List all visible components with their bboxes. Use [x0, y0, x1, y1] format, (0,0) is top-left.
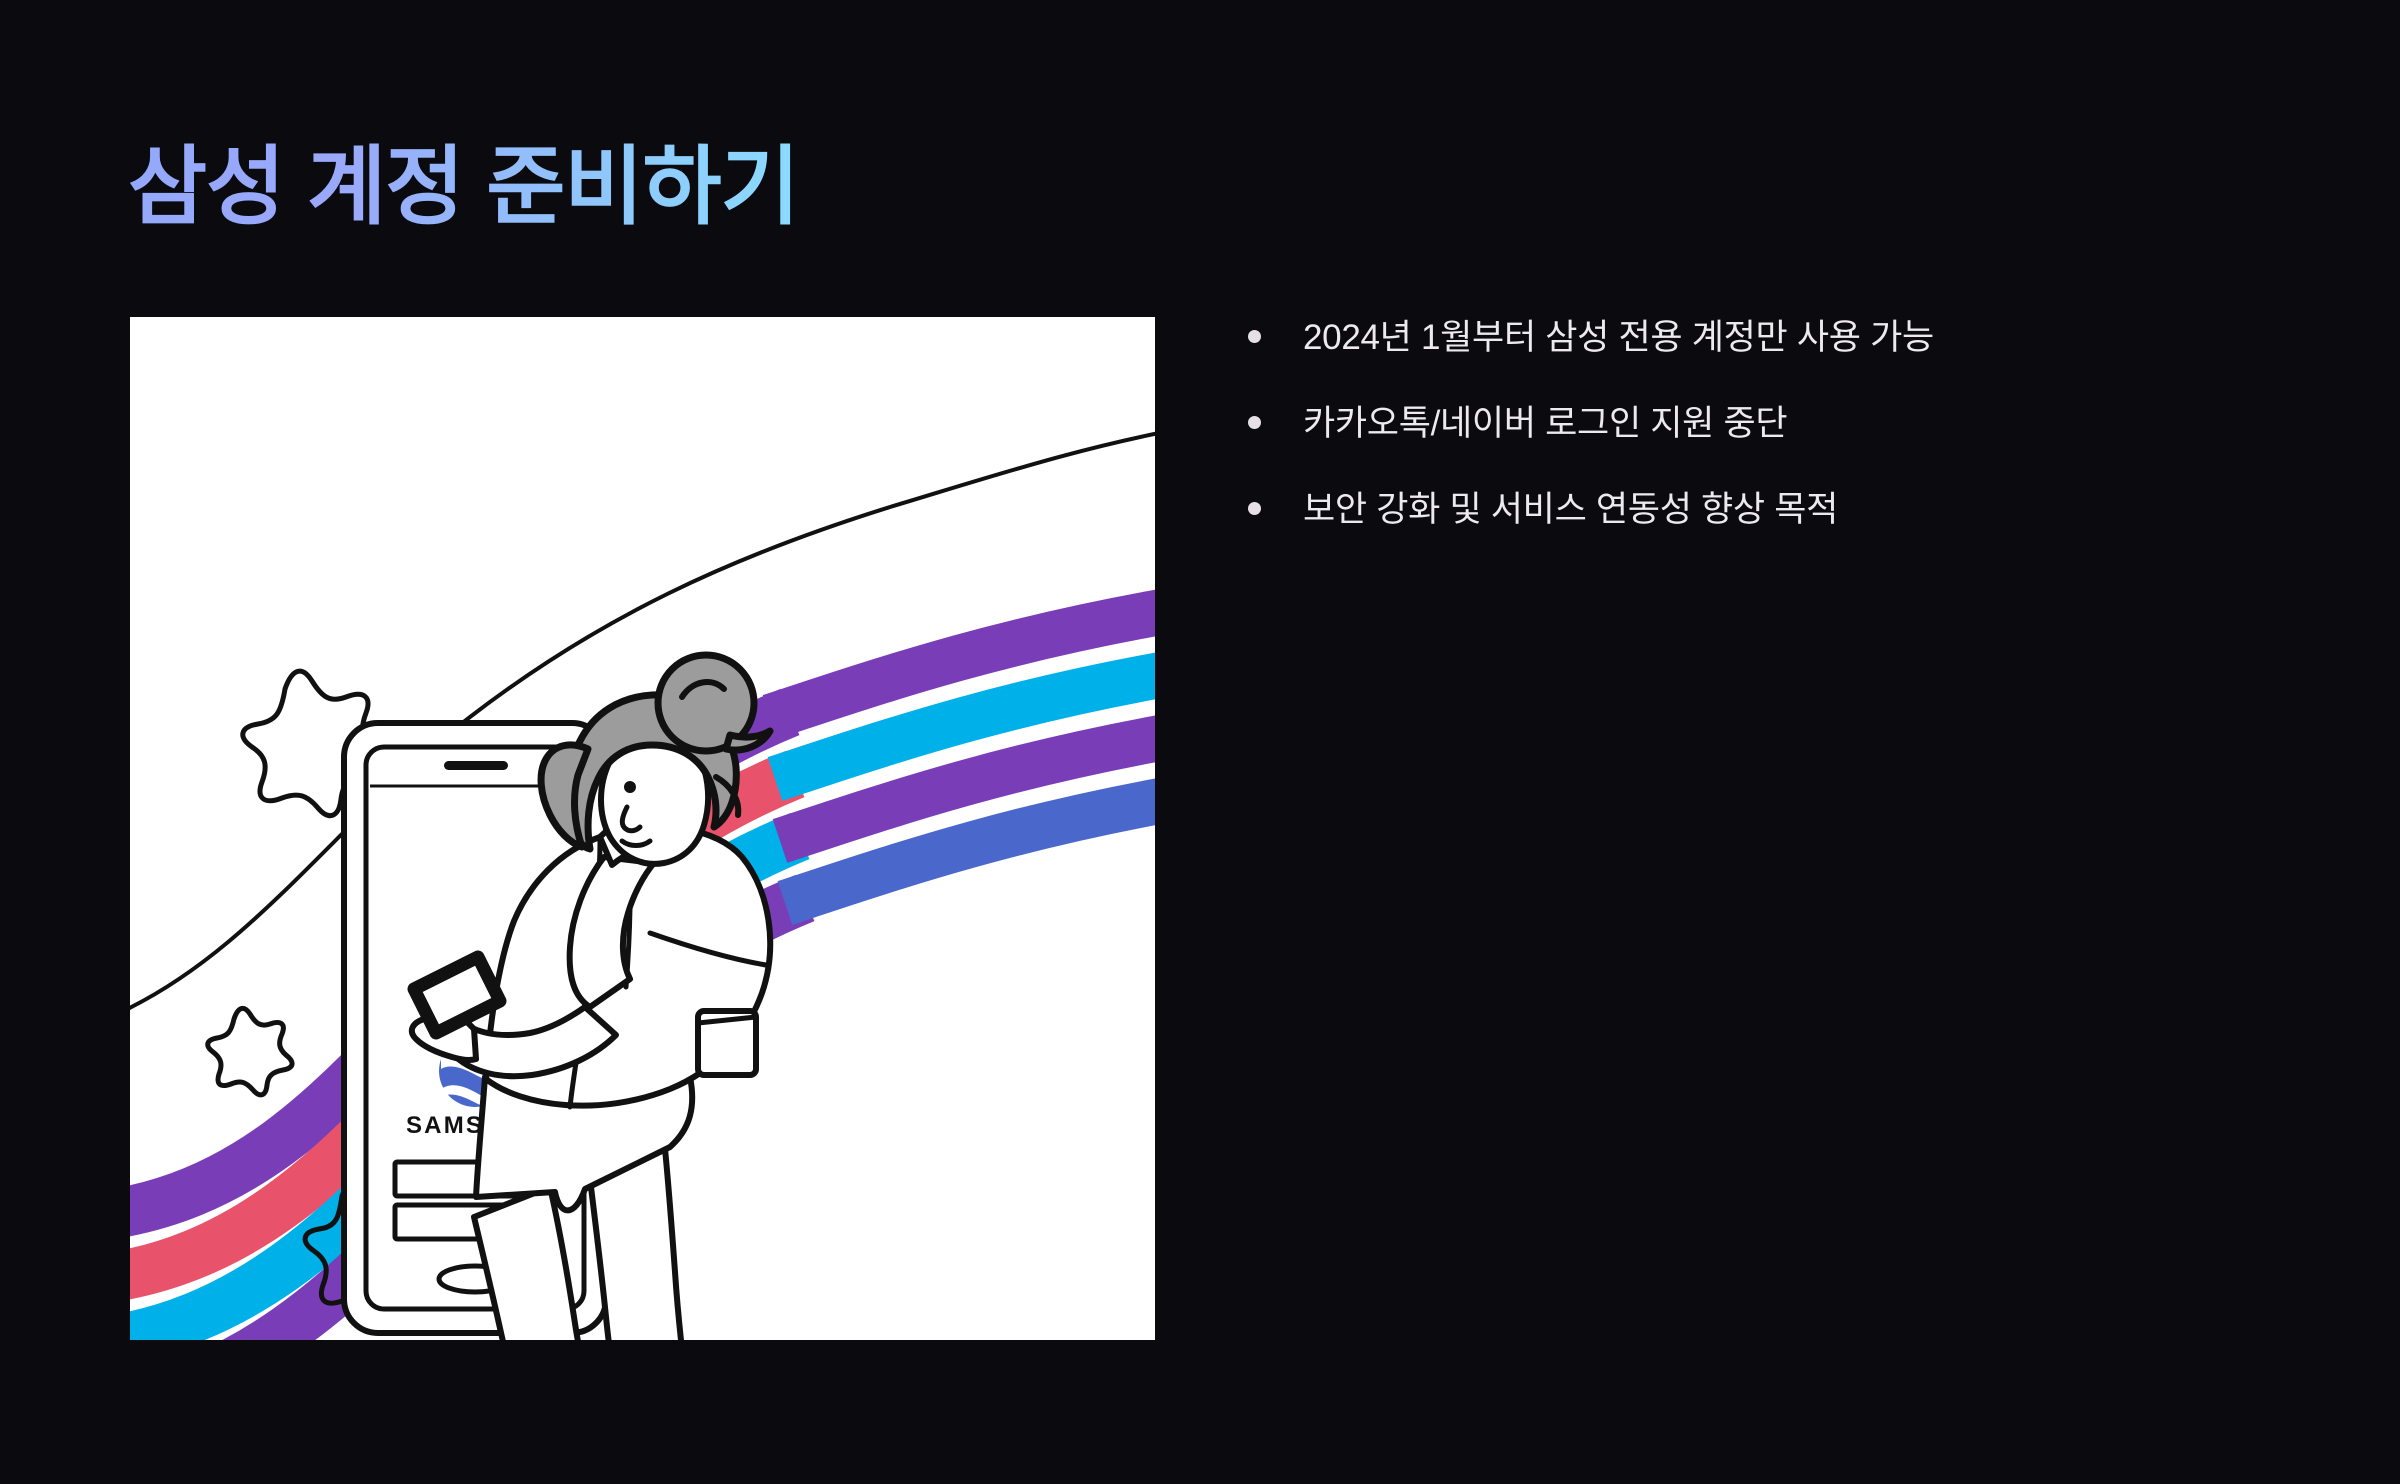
- bullet-list: 2024년 1월부터 삼성 전용 계정만 사용 가능 카카오톡/네이버 로그인 …: [1248, 313, 2248, 570]
- page-title: 삼성 계정 준비하기: [128, 136, 799, 239]
- phone-earpiece: [444, 761, 508, 770]
- list-item: 카카오톡/네이버 로그인 지원 중단: [1248, 399, 2248, 450]
- eye: [624, 781, 636, 793]
- bullet-dot-icon: [1248, 416, 1261, 429]
- bullet-dot-icon: [1248, 502, 1261, 515]
- list-item-label: 보안 강화 및 서비스 연동성 향상 목적: [1303, 485, 1838, 536]
- samsung-account-illustration: SAMSUNG: [130, 317, 1155, 1340]
- list-item-label: 카카오톡/네이버 로그인 지원 중단: [1303, 399, 1787, 450]
- list-item: 보안 강화 및 서비스 연동성 향상 목적: [1248, 485, 2248, 536]
- illustration-panel: SAMSUNG: [130, 317, 1155, 1340]
- bullet-dot-icon: [1248, 330, 1261, 343]
- slide-root: 삼성 계정 준비하기: [0, 0, 2400, 1484]
- list-item: 2024년 1월부터 삼성 전용 계정만 사용 가능: [1248, 313, 2248, 364]
- list-item-label: 2024년 1월부터 삼성 전용 계정만 사용 가능: [1303, 313, 1934, 364]
